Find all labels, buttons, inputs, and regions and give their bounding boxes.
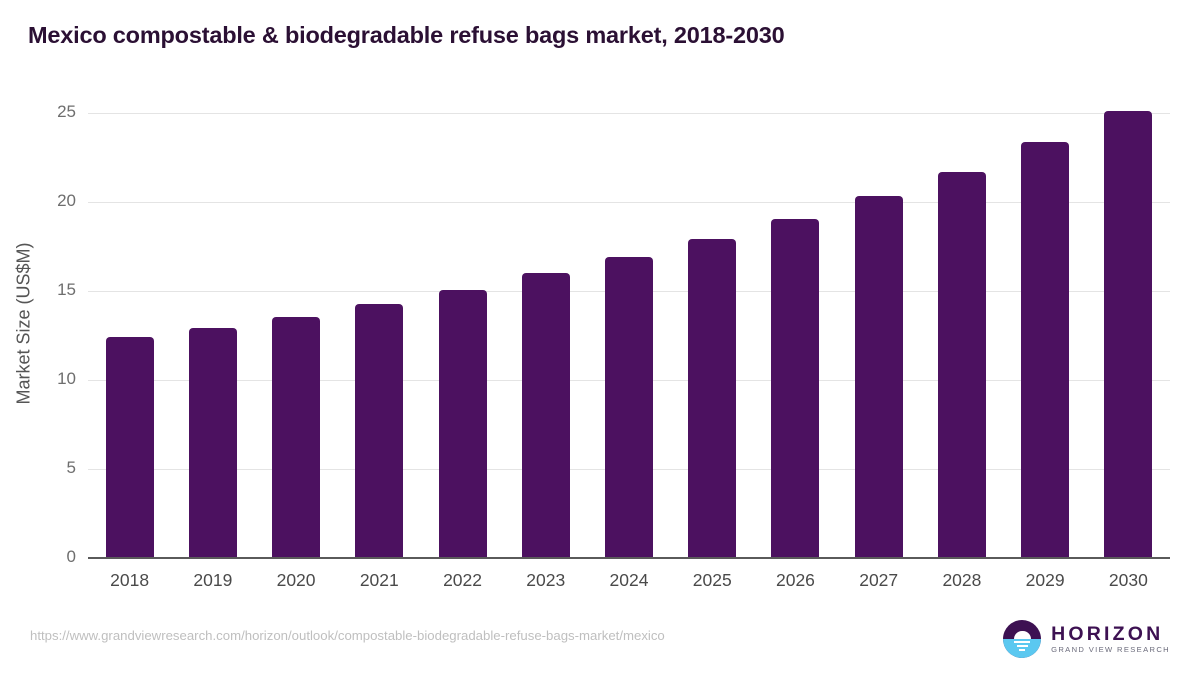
- x-axis-tick-label: 2019: [168, 570, 258, 591]
- source-url[interactable]: https://www.grandviewresearch.com/horizo…: [30, 628, 665, 643]
- x-axis-line: [88, 557, 1170, 559]
- logo-reflection-line-2: [1017, 645, 1028, 647]
- bar[interactable]: [1021, 142, 1069, 558]
- horizon-logo[interactable]: HORIZON GRAND VIEW RESEARCH: [1003, 618, 1170, 660]
- x-axis-tick-label: 2030: [1083, 570, 1173, 591]
- y-axis-tick-label: 25: [30, 102, 76, 122]
- x-axis-tick-label: 2024: [584, 570, 674, 591]
- logo-reflection-line-1: [1014, 641, 1030, 643]
- x-axis-tick-label: 2028: [917, 570, 1007, 591]
- y-axis-tick-label: 20: [30, 191, 76, 211]
- plot-area: [88, 113, 1170, 558]
- x-axis-tick-label: 2025: [667, 570, 757, 591]
- bar[interactable]: [522, 273, 570, 558]
- bar[interactable]: [106, 337, 154, 558]
- y-axis-tick-label: 5: [30, 458, 76, 478]
- y-axis-tick-label: 15: [30, 280, 76, 300]
- gridline: [88, 202, 1170, 203]
- x-axis-tick-label: 2020: [251, 570, 341, 591]
- x-axis-tick-label: 2026: [750, 570, 840, 591]
- x-axis-tick-label: 2023: [501, 570, 591, 591]
- bar[interactable]: [272, 317, 320, 558]
- chart-page: Mexico compostable & biodegradable refus…: [0, 0, 1200, 675]
- bar[interactable]: [189, 328, 237, 558]
- gridline: [88, 113, 1170, 114]
- bar[interactable]: [1104, 111, 1152, 558]
- y-axis-title: Market Size (US$M): [14, 64, 35, 584]
- bar[interactable]: [771, 219, 819, 558]
- y-axis-tick-label: 0: [30, 547, 76, 567]
- x-axis-tick-label: 2029: [1000, 570, 1090, 591]
- logo-tagline: GRAND VIEW RESEARCH: [1051, 645, 1170, 654]
- x-axis-tick-label: 2022: [418, 570, 508, 591]
- bar[interactable]: [688, 239, 736, 559]
- logo-sun-shape: [1014, 631, 1031, 640]
- bar[interactable]: [355, 304, 403, 558]
- bar[interactable]: [855, 196, 903, 558]
- bar[interactable]: [439, 290, 487, 558]
- x-axis-tick-label: 2027: [834, 570, 924, 591]
- x-axis-tick-label: 2018: [85, 570, 175, 591]
- x-axis-tick-label: 2021: [334, 570, 424, 591]
- bar[interactable]: [938, 172, 986, 558]
- bar[interactable]: [605, 257, 653, 558]
- logo-reflection-line-3: [1019, 649, 1025, 651]
- horizon-logo-icon: [1003, 620, 1041, 658]
- logo-text-block: HORIZON GRAND VIEW RESEARCH: [1051, 624, 1170, 655]
- logo-wordmark: HORIZON: [1051, 624, 1170, 644]
- y-axis-tick-label: 10: [30, 369, 76, 389]
- page-title: Mexico compostable & biodegradable refus…: [28, 22, 1158, 49]
